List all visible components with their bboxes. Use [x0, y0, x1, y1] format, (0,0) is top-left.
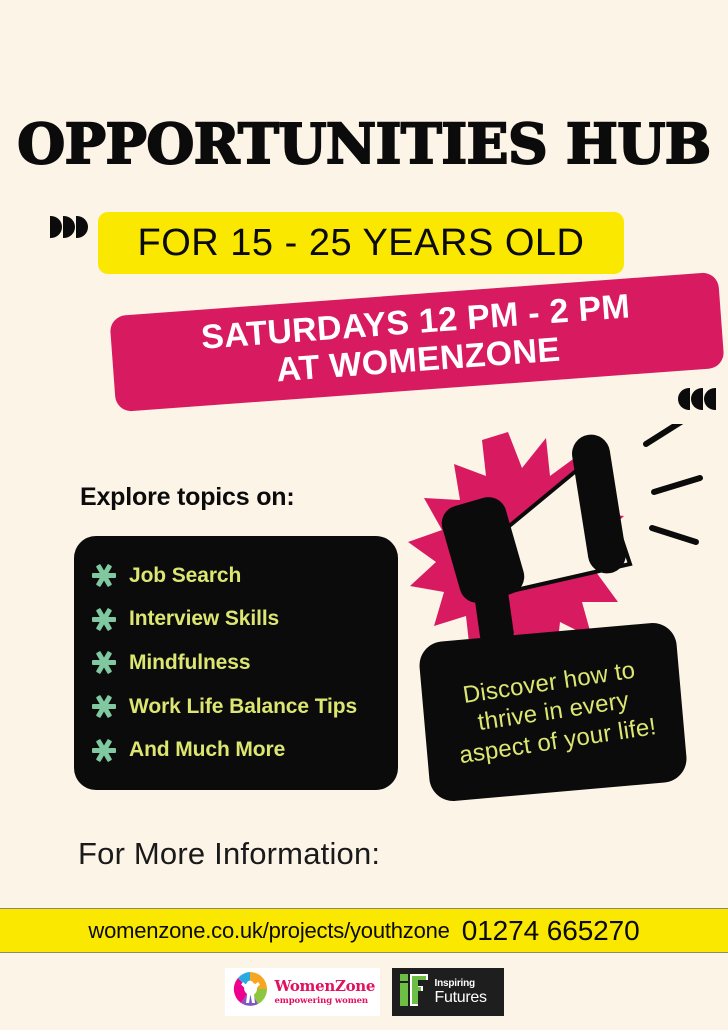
- topics-heading: Explore topics on:: [80, 483, 294, 512]
- list-item: Work Life Balance Tips: [74, 687, 398, 727]
- list-item-label: And Much More: [129, 738, 285, 762]
- womenzone-logo: WomenZone empowering women: [225, 968, 380, 1016]
- contact-bar: womenzone.co.uk/projects/youthzone 01274…: [0, 908, 728, 953]
- asterisk-icon: [92, 738, 116, 762]
- list-item: Job Search: [74, 556, 398, 596]
- topics-list: Job Search Interview Skills Mindfulness …: [74, 536, 398, 790]
- arrow-glyph-3: [76, 216, 88, 238]
- list-item: And Much More: [74, 730, 398, 770]
- triple-play-arrow-left-icon: [678, 388, 716, 410]
- arrow-glyph-2: [63, 216, 75, 238]
- inspiring-futures-logo: Inspiring Futures: [392, 968, 504, 1016]
- womenzone-logo-text: WomenZone empowering women: [275, 979, 376, 1006]
- page-title: OPPORTUNITIES HUB: [0, 116, 728, 171]
- inspiring-futures-line2: Futures: [435, 990, 487, 1006]
- schedule-banner: SATURDAYS 12 PM - 2 PM AT WOMENZONE: [109, 272, 724, 412]
- womenzone-name: WomenZone: [275, 979, 376, 994]
- arrow-glyph-2: [691, 388, 703, 410]
- arrow-glyph-3: [704, 388, 716, 410]
- list-item: Interview Skills: [74, 599, 398, 639]
- inspiring-futures-logo-mark: [398, 970, 430, 1015]
- poster-canvas: OPPORTUNITIES HUB FOR 15 - 25 YEARS OLD …: [0, 0, 728, 1030]
- arrow-glyph-1: [50, 216, 62, 238]
- logo-row: WomenZone empowering women Inspiring: [0, 968, 728, 1016]
- phone-number[interactable]: 01274 665270: [462, 915, 640, 947]
- speech-bubble-text: Discover how to thrive in every aspect o…: [442, 653, 663, 771]
- list-item-label: Mindfulness: [129, 651, 250, 675]
- womenzone-tagline: empowering women: [275, 997, 376, 1006]
- sound-wave-2: [654, 478, 700, 492]
- asterisk-icon: [92, 695, 116, 719]
- inspiring-futures-line1: Inspiring: [435, 979, 487, 989]
- sound-wave-3: [652, 528, 696, 542]
- asterisk-icon: [92, 564, 116, 588]
- asterisk-icon: [92, 651, 116, 675]
- age-range-label: FOR 15 - 25 YEARS OLD: [138, 222, 585, 265]
- list-item-label: Job Search: [129, 564, 241, 588]
- arrow-glyph-1: [678, 388, 690, 410]
- list-item-label: Work Life Balance Tips: [129, 695, 357, 719]
- womenzone-logo-mark: [231, 970, 269, 1015]
- age-range-banner: FOR 15 - 25 YEARS OLD: [98, 212, 624, 274]
- list-item: Mindfulness: [74, 643, 398, 683]
- list-item-label: Interview Skills: [129, 607, 279, 631]
- speech-bubble: Discover how to thrive in every aspect o…: [418, 621, 689, 803]
- website-url[interactable]: womenzone.co.uk/projects/youthzone: [88, 918, 449, 944]
- more-information-label: For More Information:: [78, 836, 380, 872]
- inspiring-futures-logo-text: Inspiring Futures: [435, 979, 487, 1006]
- triple-play-arrow-right-icon: [50, 216, 88, 238]
- sound-wave-1: [646, 424, 684, 444]
- asterisk-icon: [92, 607, 116, 631]
